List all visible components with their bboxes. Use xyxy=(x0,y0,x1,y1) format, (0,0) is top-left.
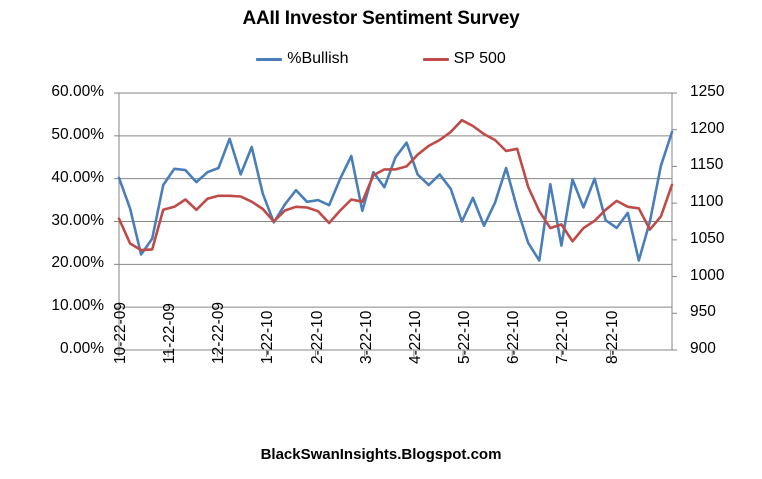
left-axis-tick-label: 40.00% xyxy=(8,169,104,187)
right-axis-tick-label: 1200 xyxy=(690,120,724,138)
right-axis-tick-label: 1100 xyxy=(690,193,723,211)
plot-area xyxy=(0,0,762,479)
x-axis-tick-label: 5-22-10 xyxy=(456,311,474,364)
x-axis-tick-label: 2-22-10 xyxy=(309,311,327,364)
left-axis-tick-label: 50.00% xyxy=(8,126,104,144)
x-axis-tick-label: 10-22-09 xyxy=(112,302,130,364)
chart-container: AAII Investor Sentiment Survey %Bullish … xyxy=(0,0,762,479)
source-credit: BlackSwanInsights.Blogspot.com xyxy=(0,446,762,463)
x-axis-tick-label: 11-22-09 xyxy=(161,303,179,364)
x-axis-tick-label: 7-22-10 xyxy=(554,311,572,364)
right-axis-tick-label: 1250 xyxy=(690,83,724,101)
right-axis-tick-label: 1150 xyxy=(690,156,723,174)
left-axis-tick-label: 60.00% xyxy=(8,83,104,101)
x-axis-tick-label: 3-22-10 xyxy=(358,311,376,364)
left-axis-tick-label: 0.00% xyxy=(8,340,104,358)
left-axis-tick-label: 30.00% xyxy=(8,212,104,230)
x-axis-tick-label: 1-22-10 xyxy=(259,311,277,364)
left-axis-tick-label: 20.00% xyxy=(8,254,104,272)
right-axis-tick-label: 900 xyxy=(690,340,716,358)
left-axis-tick-label: 10.00% xyxy=(8,297,104,315)
series-line-bullish xyxy=(119,132,672,261)
series-line-sp500 xyxy=(119,120,672,250)
right-axis-tick-label: 950 xyxy=(690,303,716,321)
x-axis-tick-label: 12-22-09 xyxy=(210,302,228,364)
gridlines xyxy=(119,93,672,350)
x-axis-tick-label: 8-22-10 xyxy=(604,311,622,364)
right-axis-tick-label: 1050 xyxy=(690,230,724,248)
x-axis-tick-label: 6-22-10 xyxy=(505,311,523,364)
x-axis-tick-label: 4-22-10 xyxy=(407,311,425,364)
right-axis-tick-label: 1000 xyxy=(690,267,724,285)
